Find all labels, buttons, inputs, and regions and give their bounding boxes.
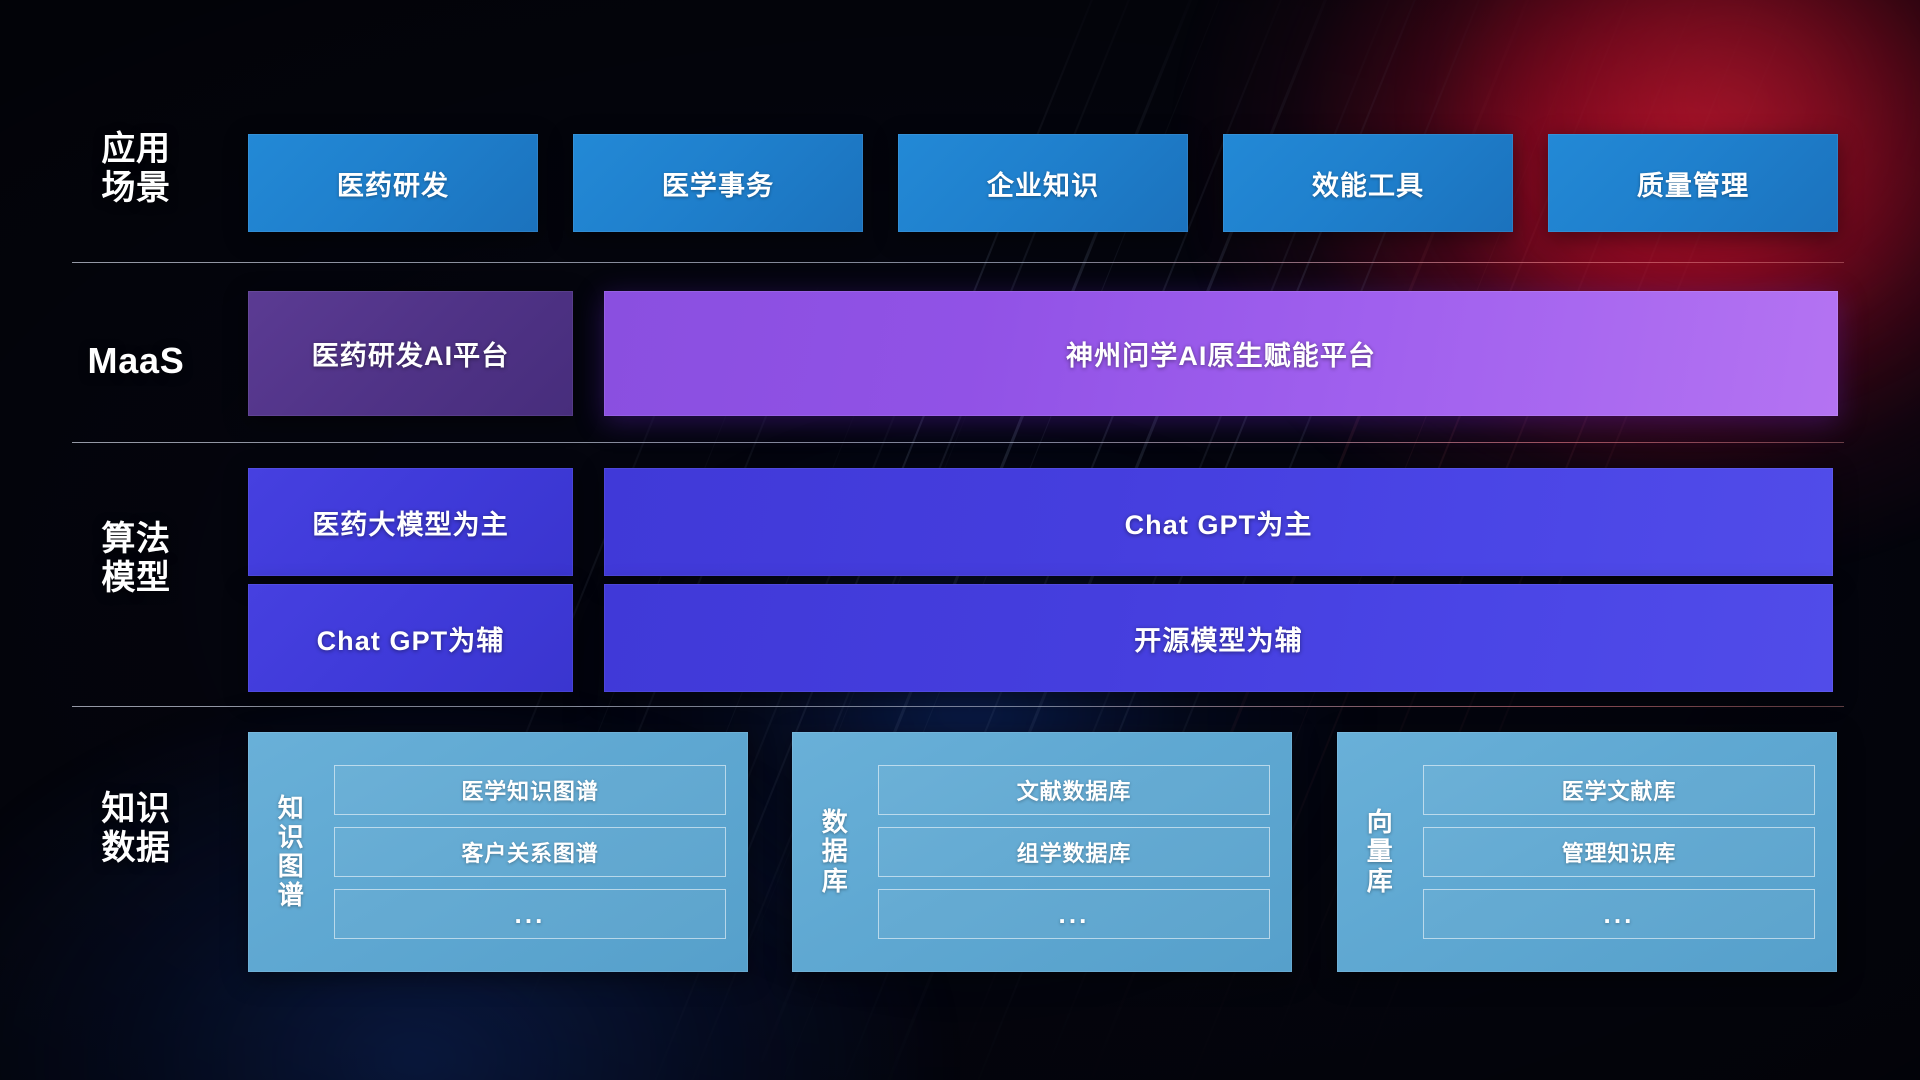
knowledge-items-knowledge-graph: 医学知识图谱 客户关系图谱 ...: [334, 732, 748, 972]
algo-box-chatgpt-primary[interactable]: Chat GPT为主: [604, 468, 1833, 576]
maas-box-pharma-ai-platform[interactable]: 医药研发AI平台: [248, 291, 573, 416]
title-char: 识: [278, 823, 305, 852]
knowledge-panel-title-database: 数 据 库: [792, 732, 878, 972]
knowledge-panel-knowledge-graph[interactable]: 知 识 图 谱 医学知识图谱 客户关系图谱 ...: [248, 732, 748, 972]
title-char: 图: [278, 852, 305, 881]
row-label-knowledge-data: 知识 数据: [72, 790, 200, 869]
row-label-algorithm-model: 算法 模型: [72, 520, 200, 599]
knowledge-item-more-vs[interactable]: ...: [1423, 889, 1815, 939]
knowledge-item-more-kg[interactable]: ...: [334, 889, 726, 939]
row-label-line: 算法: [72, 520, 200, 559]
title-char: 据: [822, 837, 849, 866]
knowledge-panel-title-knowledge-graph: 知 识 图 谱: [248, 732, 334, 972]
divider-1: [72, 262, 1844, 263]
knowledge-items-database: 文献数据库 组学数据库 ...: [878, 732, 1292, 972]
app-card-efficiency-tools[interactable]: 效能工具: [1223, 134, 1513, 232]
title-char: 库: [1367, 867, 1394, 896]
app-card-enterprise-knowledge[interactable]: 企业知识: [898, 134, 1188, 232]
title-char: 谱: [278, 881, 305, 910]
divider-3: [72, 706, 1844, 707]
row-label-line: 场景: [72, 169, 200, 208]
title-char: 数: [822, 808, 849, 837]
title-char: 库: [822, 867, 849, 896]
knowledge-item-literature-database[interactable]: 文献数据库: [878, 765, 1270, 815]
knowledge-item-omics-database[interactable]: 组学数据库: [878, 827, 1270, 877]
algo-box-pharma-llm-primary[interactable]: 医药大模型为主: [248, 468, 573, 576]
maas-box-shenzhou-wenxue-platform[interactable]: 神州问学AI原生赋能平台: [604, 291, 1838, 416]
row-label-line: 模型: [72, 559, 200, 598]
knowledge-panel-vector-store[interactable]: 向 量 库 医学文献库 管理知识库 ...: [1337, 732, 1837, 972]
divider-2: [72, 442, 1844, 443]
row-label-line: 数据: [72, 829, 200, 868]
app-card-medicine-rd[interactable]: 医药研发: [248, 134, 538, 232]
row-label-maas: MaaS: [72, 340, 200, 382]
algo-box-opensource-secondary[interactable]: 开源模型为辅: [604, 584, 1833, 692]
knowledge-item-medical-literature-store[interactable]: 医学文献库: [1423, 765, 1815, 815]
title-char: 向: [1367, 808, 1394, 837]
knowledge-panel-title-vector-store: 向 量 库: [1337, 732, 1423, 972]
title-char: 知: [278, 794, 305, 823]
knowledge-item-customer-relation-graph[interactable]: 客户关系图谱: [334, 827, 726, 877]
row-label-line: 知识: [72, 790, 200, 829]
knowledge-panel-database[interactable]: 数 据 库 文献数据库 组学数据库 ...: [792, 732, 1292, 972]
row-label-line: 应用: [72, 130, 200, 169]
knowledge-item-more-db[interactable]: ...: [878, 889, 1270, 939]
algo-box-chatgpt-secondary[interactable]: Chat GPT为辅: [248, 584, 573, 692]
diagram-canvas: 应用 场景 医药研发 医学事务 企业知识 效能工具 质量管理 MaaS 医药研发…: [0, 0, 1920, 1080]
knowledge-item-management-knowledge-store[interactable]: 管理知识库: [1423, 827, 1815, 877]
title-char: 量: [1367, 837, 1394, 866]
knowledge-item-medical-knowledge-graph[interactable]: 医学知识图谱: [334, 765, 726, 815]
row-label-application-scenarios: 应用 场景: [72, 130, 200, 209]
knowledge-items-vector-store: 医学文献库 管理知识库 ...: [1423, 732, 1837, 972]
row-label-line: MaaS: [72, 340, 200, 382]
app-card-quality-management[interactable]: 质量管理: [1548, 134, 1838, 232]
app-card-medical-affairs[interactable]: 医学事务: [573, 134, 863, 232]
